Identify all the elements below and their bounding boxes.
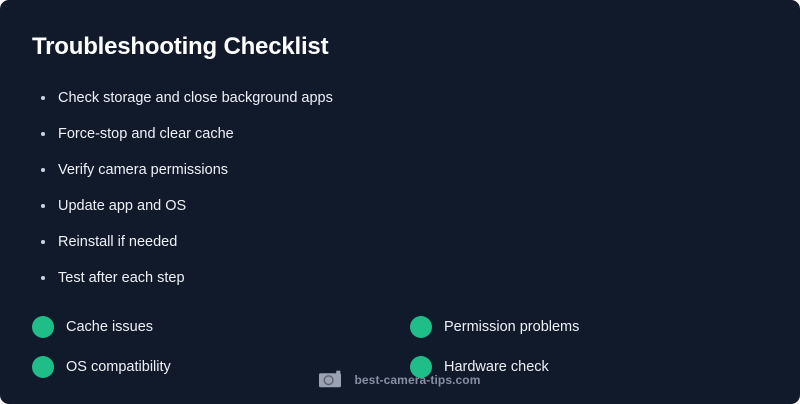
bullet-icon bbox=[41, 276, 45, 280]
troubleshooting-checklist-card: Troubleshooting Checklist Check storage … bbox=[0, 0, 800, 404]
bullet-icon bbox=[41, 96, 45, 100]
list-item: Reinstall if needed bbox=[32, 224, 632, 260]
bullet-icon bbox=[41, 204, 45, 208]
list-item-label: Update app and OS bbox=[58, 198, 186, 214]
list-item: Check storage and close background apps bbox=[32, 80, 632, 116]
checklist: Check storage and close background apps … bbox=[32, 80, 632, 296]
list-item-label: Force-stop and clear cache bbox=[58, 126, 234, 142]
legend-item-label: Cache issues bbox=[66, 319, 153, 335]
page-title: Troubleshooting Checklist bbox=[32, 33, 328, 61]
bullet-icon bbox=[41, 168, 45, 172]
watermark: best-camera-tips.com bbox=[0, 370, 800, 389]
legend-dot-icon bbox=[32, 316, 54, 338]
list-item-label: Verify camera permissions bbox=[58, 162, 228, 178]
legend-item-permission-problems: Permission problems bbox=[410, 307, 768, 347]
camera-icon bbox=[319, 370, 345, 389]
list-item-label: Check storage and close background apps bbox=[58, 90, 333, 106]
list-item-label: Test after each step bbox=[58, 270, 185, 286]
legend-item-label: Permission problems bbox=[444, 319, 579, 335]
list-item: Update app and OS bbox=[32, 188, 632, 224]
legend-dot-icon bbox=[410, 316, 432, 338]
list-item: Force-stop and clear cache bbox=[32, 116, 632, 152]
list-item-label: Reinstall if needed bbox=[58, 234, 177, 250]
list-item: Verify camera permissions bbox=[32, 152, 632, 188]
list-item: Test after each step bbox=[32, 260, 632, 296]
bullet-icon bbox=[41, 132, 45, 136]
legend-item-cache-issues: Cache issues bbox=[32, 307, 410, 347]
bullet-icon bbox=[41, 240, 45, 244]
watermark-text: best-camera-tips.com bbox=[354, 373, 480, 387]
